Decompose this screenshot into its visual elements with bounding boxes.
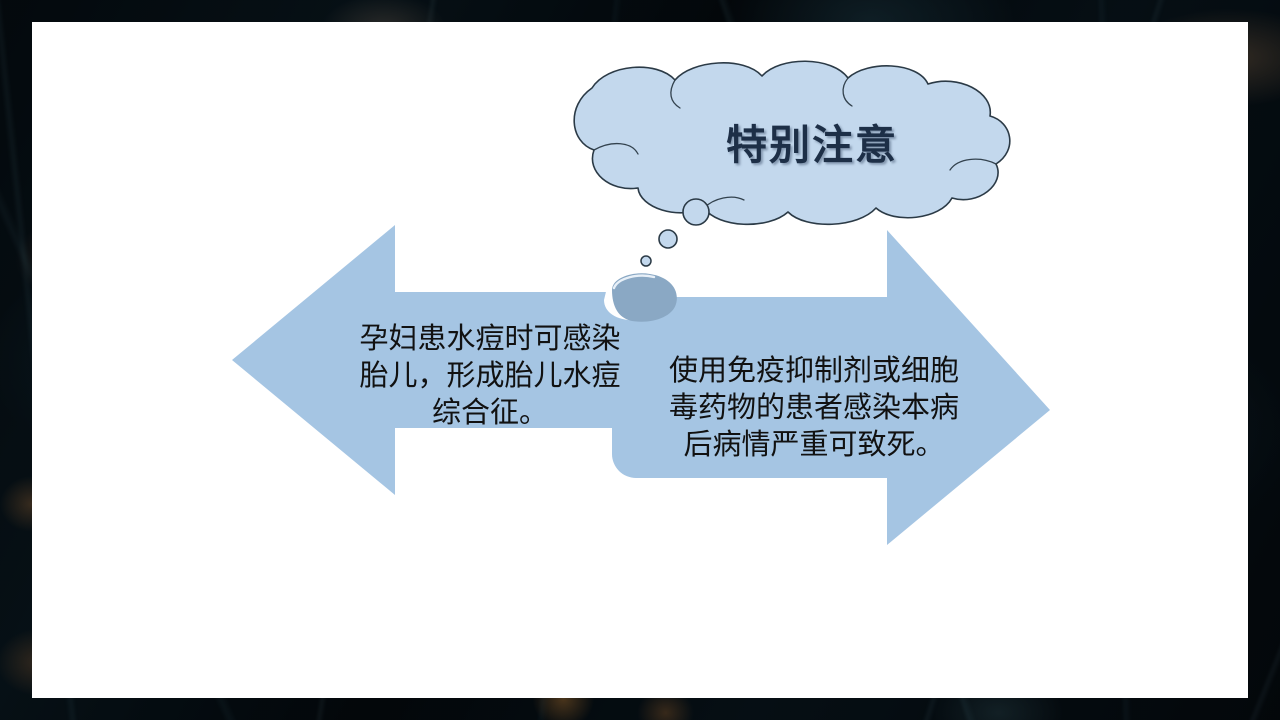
slide-root: 特别注意 孕妇患水痘时可感染胎儿，形成胎儿水痘综合征。 使用免疫抑制剂或细胞毒药…: [0, 0, 1280, 720]
cloud-title: 特别注意: [652, 119, 972, 171]
left-arrow-label: 孕妇患水痘时可感染胎儿，形成胎儿水痘综合征。: [347, 321, 633, 432]
slide-artwork: [32, 22, 1248, 698]
thought-bubble-small: [641, 256, 651, 266]
slide-content-card: 特别注意 孕妇患水痘时可感染胎儿，形成胎儿水痘综合征。 使用免疫抑制剂或细胞毒药…: [32, 22, 1248, 698]
thought-bubble-large: [683, 199, 709, 225]
right-arrow-label: 使用免疫抑制剂或细胞毒药物的患者感染本病后病情严重可致死。: [666, 353, 962, 464]
thought-bubble-medium: [659, 230, 677, 248]
artwork-canvas: [32, 22, 1248, 698]
